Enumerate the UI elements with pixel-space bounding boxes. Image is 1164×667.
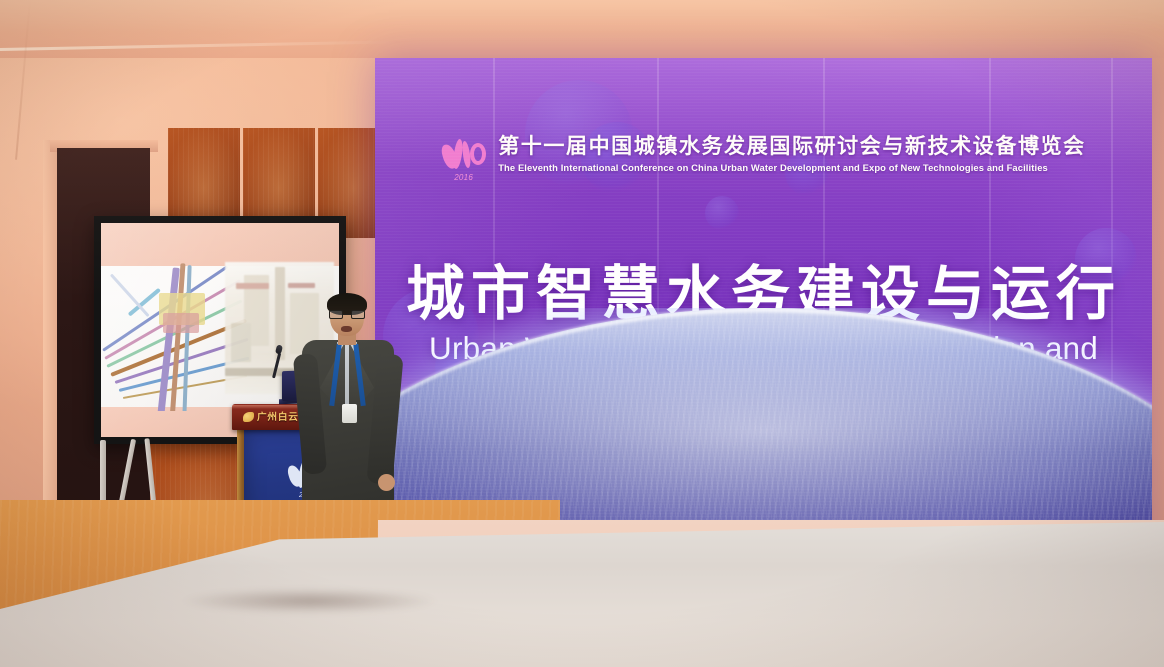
lectern-shadow xyxy=(180,588,440,614)
conference-stage-photo: 2016 第十一届中国城镇水务发展国际研讨会与新技术设备博览会 The Elev… xyxy=(0,0,1164,667)
speaker-hand xyxy=(378,474,395,491)
conference-name-cn: 第十一届中国城镇水务发展国际研讨会与新技术设备博览会 xyxy=(498,136,1086,158)
speaker-mouth xyxy=(341,326,352,332)
stage-backdrop: 2016 第十一届中国城镇水务发展国际研讨会与新技术设备博览会 The Elev… xyxy=(375,58,1152,568)
backdrop-header: 2016 第十一届中国城镇水务发展国际研讨会与新技术设备博览会 The Elev… xyxy=(375,136,1152,180)
conference-name-en: The Eleventh International Conference on… xyxy=(498,162,1048,173)
speaker-badge xyxy=(342,404,357,423)
water-calligraphy-logo-icon: 2016 xyxy=(441,136,489,180)
ceiling xyxy=(0,0,1164,58)
glasses-icon xyxy=(329,310,365,319)
logo-year: 2016 xyxy=(454,173,473,182)
bubble-decoration xyxy=(705,196,739,230)
